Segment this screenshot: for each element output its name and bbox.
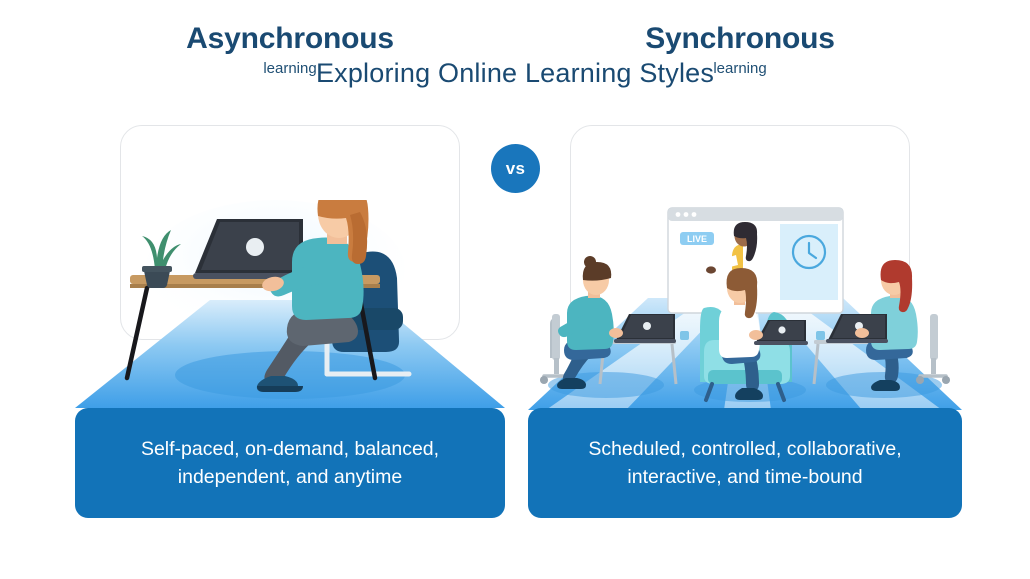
vs-badge: vs [491, 144, 540, 193]
infographic-canvas: Exploring Online Learning Styles [0, 0, 1030, 579]
synchronous-heading-group: Synchronous learning [570, 22, 910, 77]
asynchronous-caption-text: Self-paced, on-demand, balanced, indepen… [97, 435, 483, 492]
synchronous-subtitle: learning [570, 60, 910, 77]
live-badge: LIVE [680, 232, 714, 245]
svg-text:LIVE: LIVE [687, 234, 707, 244]
asynchronous-title: Asynchronous [120, 22, 460, 56]
synchronous-illustration: LIVE [528, 200, 962, 430]
asynchronous-caption-card: Self-paced, on-demand, balanced, indepen… [75, 408, 505, 518]
asynchronous-illustration [75, 200, 505, 430]
vs-label: vs [506, 159, 526, 179]
synchronous-title: Synchronous [570, 22, 910, 56]
synchronous-caption-card: Scheduled, controlled, collaborative, in… [528, 408, 962, 518]
synchronous-caption-text: Scheduled, controlled, collaborative, in… [550, 435, 940, 492]
asynchronous-heading-group: Asynchronous learning [120, 22, 460, 77]
asynchronous-subtitle: learning [120, 60, 460, 77]
